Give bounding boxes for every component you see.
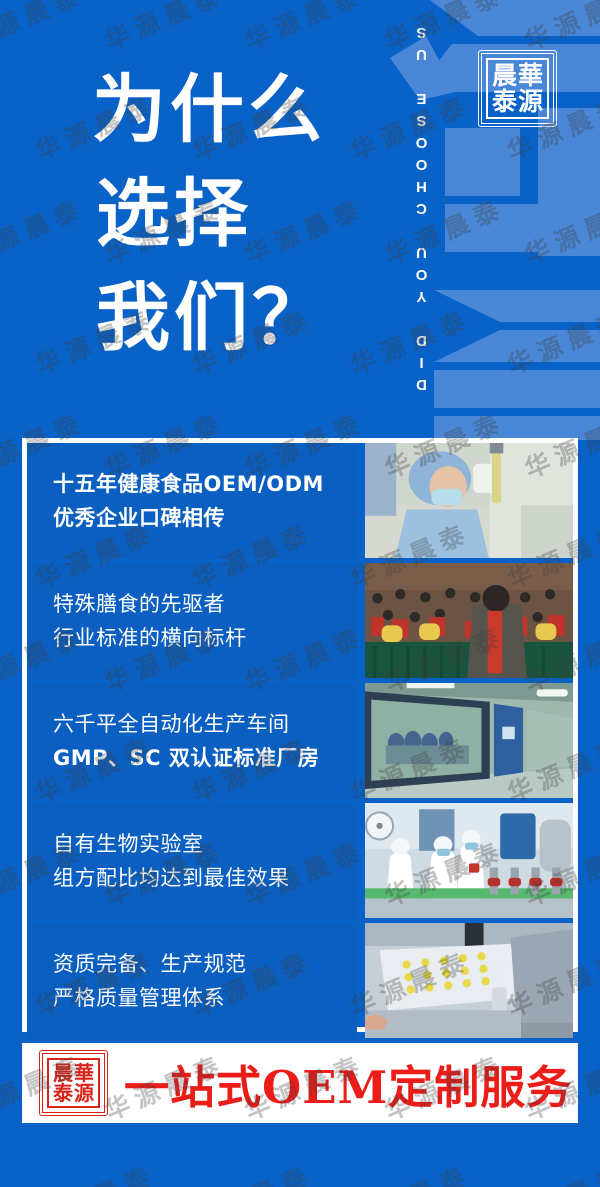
features-list: 十五年健康食品OEM/ODM 优秀企业口碑相传 xyxy=(27,443,573,1038)
feature-row: 特殊膳食的先驱者 行业标准的横向标杆 xyxy=(27,563,573,678)
vertical-english-caption: DID YOU CHOOSE US xyxy=(404,22,430,390)
poster-root: 为什么 选择 我们？ DID YOU CHOOSE US 華 源 晨 泰 xyxy=(0,0,600,1187)
conference-audience-photo xyxy=(365,563,573,678)
footer-slogan: 一站式OEM定制服务 xyxy=(124,1051,572,1116)
watermark-text: 华源晨泰 xyxy=(29,1143,188,1187)
feature-line-1: 六千平全自动化生产车间 xyxy=(53,707,357,741)
seal-glyph-chen: 晨 xyxy=(53,1063,73,1083)
production-line-staff-photo xyxy=(365,803,573,918)
seal-glyph-tai: 泰 xyxy=(492,89,517,115)
watermark-text: 华源晨泰 xyxy=(344,1143,503,1187)
headline-line-1: 为什么 xyxy=(92,58,330,162)
blister-packing-machine-photo xyxy=(365,923,573,1038)
seal-glyph-hua: 華 xyxy=(518,63,543,89)
feature-line-1: 资质完备、生产规范 xyxy=(53,947,357,981)
feature-row: 资质完备、生产规范 严格质量管理体系 xyxy=(27,923,573,1038)
feature-row: 十五年健康食品OEM/ODM 优秀企业口碑相传 xyxy=(27,443,573,558)
feature-line-1: 自有生物实验室 xyxy=(53,827,357,861)
watermark-text: 华源晨泰 xyxy=(502,1143,600,1187)
cleanroom-corridor-photo xyxy=(365,683,573,798)
lab-technician-photo xyxy=(365,443,573,558)
feature-line-2: 严格质量管理体系 xyxy=(53,981,357,1015)
feature-line-1: 特殊膳食的先驱者 xyxy=(53,587,357,621)
footer-seal-logo: 華 源 晨 泰 xyxy=(39,1050,108,1117)
watermark-row: 华源晨泰华源晨泰华源晨泰华源晨泰华源晨泰 xyxy=(0,1137,600,1187)
feature-card-4[interactable]: 自有生物实验室 组方配比均达到最佳效果 xyxy=(27,803,357,918)
seal-glyph-yuan: 源 xyxy=(74,1083,94,1103)
seal-glyph-chen: 晨 xyxy=(492,63,517,89)
feature-row: 自有生物实验室 组方配比均达到最佳效果 xyxy=(27,803,573,918)
feature-line-2: 组方配比均达到最佳效果 xyxy=(53,861,357,895)
feature-card-1[interactable]: 十五年健康食品OEM/ODM 优秀企业口碑相传 xyxy=(27,443,357,558)
feature-line-2: 行业标准的横向标杆 xyxy=(53,621,357,655)
feature-line-1: 十五年健康食品OEM/ODM xyxy=(53,467,357,501)
feature-card-3[interactable]: 六千平全自动化生产车间 GMP、SC 双认证标准厂房 xyxy=(27,683,357,798)
seal-glyph-hua: 華 xyxy=(74,1063,94,1083)
bottom-banner: 華 源 晨 泰 一站式OEM定制服务 xyxy=(22,1043,578,1123)
brand-seal-logo: 華 源 晨 泰 xyxy=(478,50,557,127)
feature-card-5[interactable]: 资质完备、生产规范 严格质量管理体系 xyxy=(27,923,357,1038)
watermark-text: 华源晨泰 xyxy=(186,1143,345,1187)
header-block: 为什么 选择 我们？ DID YOU CHOOSE US 華 源 晨 泰 xyxy=(0,0,600,432)
page-title: 为什么 选择 我们？ xyxy=(92,58,330,370)
headline-line-2: 选择 xyxy=(96,162,330,266)
seal-glyph-yuan: 源 xyxy=(518,89,543,115)
feature-line-2: GMP、SC 双认证标准厂房 xyxy=(53,741,357,775)
feature-card-2[interactable]: 特殊膳食的先驱者 行业标准的横向标杆 xyxy=(27,563,357,678)
watermark-text: 华源晨泰 xyxy=(0,1143,30,1187)
feature-line-2: 优秀企业口碑相传 xyxy=(53,501,357,535)
feature-row: 六千平全自动化生产车间 GMP、SC 双认证标准厂房 xyxy=(27,683,573,798)
headline-line-3: 我们？ xyxy=(96,266,330,370)
seal-glyph-tai: 泰 xyxy=(53,1083,73,1103)
